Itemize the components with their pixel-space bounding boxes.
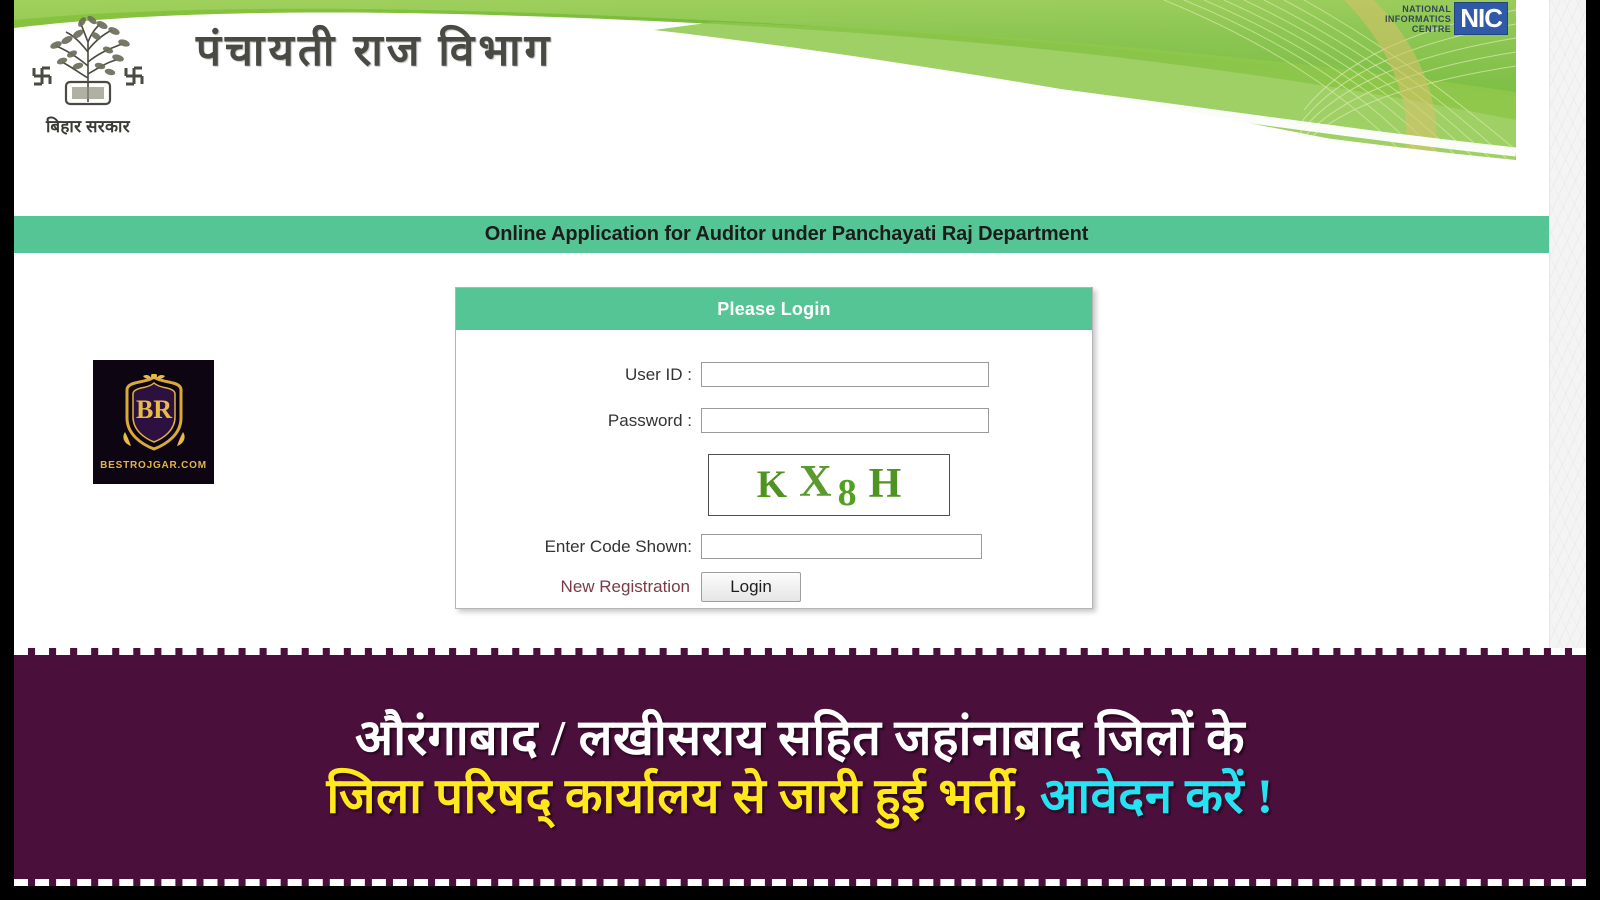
nic-logo: NATIONAL INFORMATICS CENTRE NIC — [1385, 2, 1508, 35]
nic-logo-text: NATIONAL INFORMATICS CENTRE — [1385, 4, 1451, 34]
bestrojgar-watermark-logo: BR BESTROJGAR.COM — [93, 360, 214, 484]
captcha-char-2: X — [799, 455, 832, 507]
captcha-text: K X 8 H — [709, 455, 949, 515]
application-title-bar: Online Application for Auditor under Pan… — [14, 216, 1559, 253]
frame-edge-bottom — [0, 886, 1600, 900]
password-input[interactable] — [701, 408, 989, 433]
application-title-text: Online Application for Auditor under Pan… — [485, 223, 1089, 246]
captcha-code-input[interactable] — [701, 534, 982, 559]
bihar-government-emblem: बिहार सरकार — [22, 6, 154, 138]
login-card-header: Please Login — [456, 288, 1092, 330]
login-button[interactable]: Login — [701, 572, 801, 602]
website-area: बिहार सरकार पंचायती राज विभाग NATIONAL I… — [14, 0, 1586, 648]
userid-input[interactable] — [701, 362, 989, 387]
frame-edge-right — [1586, 0, 1600, 900]
login-actions-row: New Registration Login — [456, 572, 801, 602]
captcha-char-3: 8 — [838, 471, 857, 515]
nic-badge: NIC — [1454, 2, 1508, 35]
screenshot-root: बिहार सरकार पंचायती राज विभाग NATIONAL I… — [0, 0, 1600, 900]
promo-banner-content: औरंगाबाद / लखीसराय सहित जहांनाबाद जिलों … — [34, 709, 1566, 826]
login-card: Please Login User ID : Password : K X 8 — [455, 287, 1093, 609]
emblem-label: बिहार सरकार — [22, 114, 154, 137]
captcha-char-1: K — [757, 462, 787, 507]
userid-row: User ID : — [456, 362, 989, 387]
captcha-code-label: Enter Code Shown: — [456, 537, 701, 557]
captcha-char-4: H — [869, 460, 902, 508]
login-card-body: User ID : Password : K X 8 H En — [456, 330, 1092, 608]
captcha-image: K X 8 H — [708, 454, 950, 516]
svg-text:BR: BR — [135, 395, 171, 424]
nic-line-2: INFORMATICS — [1385, 14, 1451, 24]
promo-banner-line-2-cyan: आवेदन करें ! — [1027, 769, 1273, 824]
promo-banner-line-2-yellow: जिला परिषद् कार्यालय से जारी हुई भर्ती, — [326, 769, 1027, 824]
watermark-site-text: BESTROJGAR.COM — [93, 460, 214, 471]
promo-banner-line-2: जिला परिषद् कार्यालय से जारी हुई भर्ती, … — [34, 768, 1566, 826]
shield-crest-icon: BR — [121, 374, 187, 452]
site-header: बिहार सरकार पंचायती राज विभाग NATIONAL I… — [14, 0, 1516, 160]
password-label: Password : — [456, 411, 701, 431]
nic-line-3: CENTRE — [1385, 24, 1451, 34]
nic-line-1: NATIONAL — [1385, 4, 1451, 14]
promo-banner-line-1: औरंगाबाद / लखीसराय सहित जहांनाबाद जिलों … — [34, 709, 1566, 768]
promo-banner: औरंगाबाद / लखीसराय सहित जहांनाबाद जिलों … — [14, 648, 1586, 886]
captcha-code-row: Enter Code Shown: — [456, 534, 982, 559]
password-row: Password : — [456, 408, 989, 433]
login-heading: Please Login — [717, 299, 830, 320]
userid-label: User ID : — [456, 365, 701, 385]
page-right-texture-strip — [1549, 0, 1586, 648]
frame-edge-left — [0, 0, 14, 900]
new-registration-link[interactable]: New Registration — [456, 577, 701, 597]
page-title: पंचायती राज विभाग — [196, 18, 553, 78]
